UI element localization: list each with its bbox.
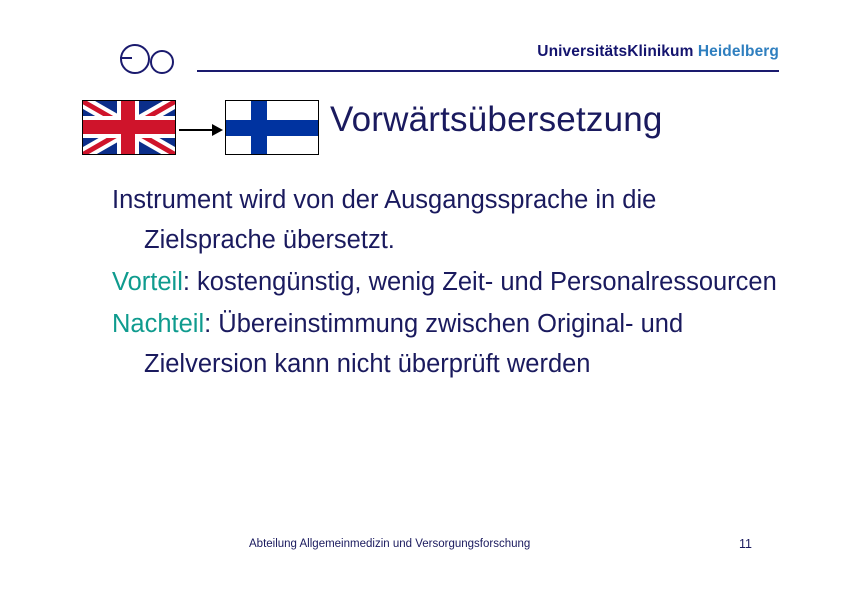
body-paragraph-1: Instrument wird von der Ausgangssprache … [112,180,792,260]
body-paragraph-3-text: : Übereinstimmung zwischen Original- und… [144,310,683,378]
brand-wordmark: UniversitätsKlinikum Heidelberg [537,43,779,61]
footer-department: Abteilung Allgemeinmedizin und Versorgun… [249,538,530,550]
brand-wordmark-secondary: Heidelberg [698,43,779,60]
slide-body: Instrument wird von der Ausgangssprache … [112,180,792,386]
header-rule-left [120,57,132,59]
body-paragraph-2-lead: Vorteil [112,268,183,296]
right-arrow-icon [179,124,223,136]
body-paragraph-1-text: Instrument wird von der Ausgangssprache … [112,186,656,254]
header-rule [197,70,779,72]
united-kingdom-flag-icon [82,100,176,155]
slide-header: UniversitätsKlinikum Heidelberg [0,0,842,90]
footer-page-number: 11 [739,537,752,551]
finland-flag-icon [225,100,319,155]
universitaetsklinikum-heidelberg-logo [120,44,202,74]
logo-ring-large-icon [120,44,150,74]
body-paragraph-3: Nachteil: Übereinstimmung zwischen Origi… [112,304,792,384]
logo-ring-small-icon [150,50,174,74]
page-title: Vorwärtsübersetzung [330,100,800,140]
translation-direction-graphic [82,100,317,156]
body-paragraph-2: Vorteil: kostengünstig, wenig Zeit- und … [112,262,792,302]
body-paragraph-2-text: : kostengünstig, wenig Zeit- und Persona… [183,268,777,296]
body-paragraph-3-lead: Nachteil [112,310,204,338]
brand-wordmark-primary: UniversitätsKlinikum [537,43,693,60]
